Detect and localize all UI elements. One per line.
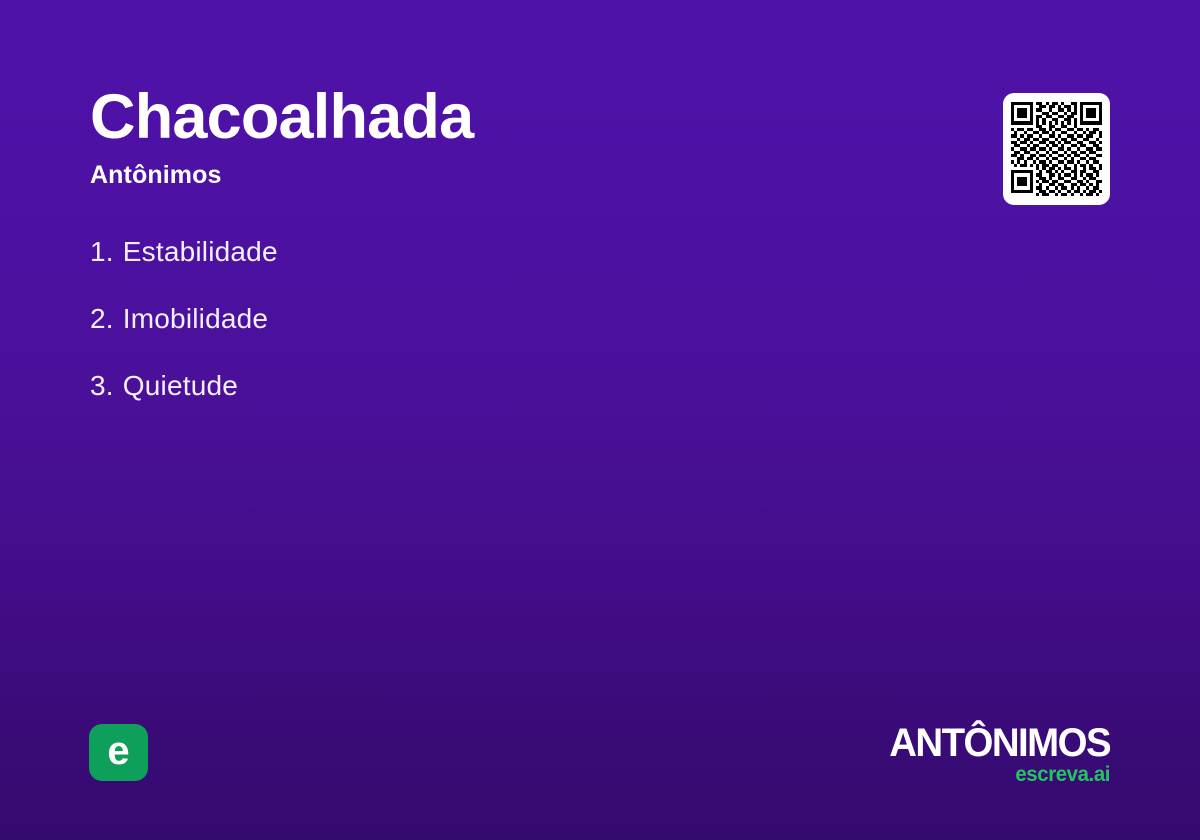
list-item: 1.Estabilidade xyxy=(90,238,278,272)
antonym-card: Chacoalhada Antônimos 1.Estabilidade 2.I… xyxy=(0,0,1200,840)
list-item-label: Quietude xyxy=(114,372,238,400)
list-item-label: Imobilidade xyxy=(114,305,268,333)
qr-code-card[interactable] xyxy=(1003,93,1110,205)
list-item-index: 2. xyxy=(90,305,114,333)
list-item-index: 3. xyxy=(90,372,114,400)
antonym-list: 1.Estabilidade 2.Imobilidade 3.Quietude xyxy=(90,238,278,439)
brand-name: ANTÔNIMOS xyxy=(889,726,1110,761)
list-item: 2.Imobilidade xyxy=(90,305,278,339)
app-logo-letter: e xyxy=(107,731,129,771)
section-label: Antônimos xyxy=(90,149,950,188)
list-item-label: Estabilidade xyxy=(114,238,278,266)
qr-code-icon xyxy=(1011,102,1102,196)
page-title: Chacoalhada xyxy=(90,86,950,149)
escreva-app-logo: e xyxy=(89,724,148,781)
list-item-index: 1. xyxy=(90,238,114,266)
brand-domain: escreva.ai xyxy=(887,761,1110,785)
brand-lockup: ANTÔNIMOS escreva.ai xyxy=(880,726,1110,785)
list-item: 3.Quietude xyxy=(90,372,278,406)
headline-block: Chacoalhada Antônimos xyxy=(90,86,950,188)
